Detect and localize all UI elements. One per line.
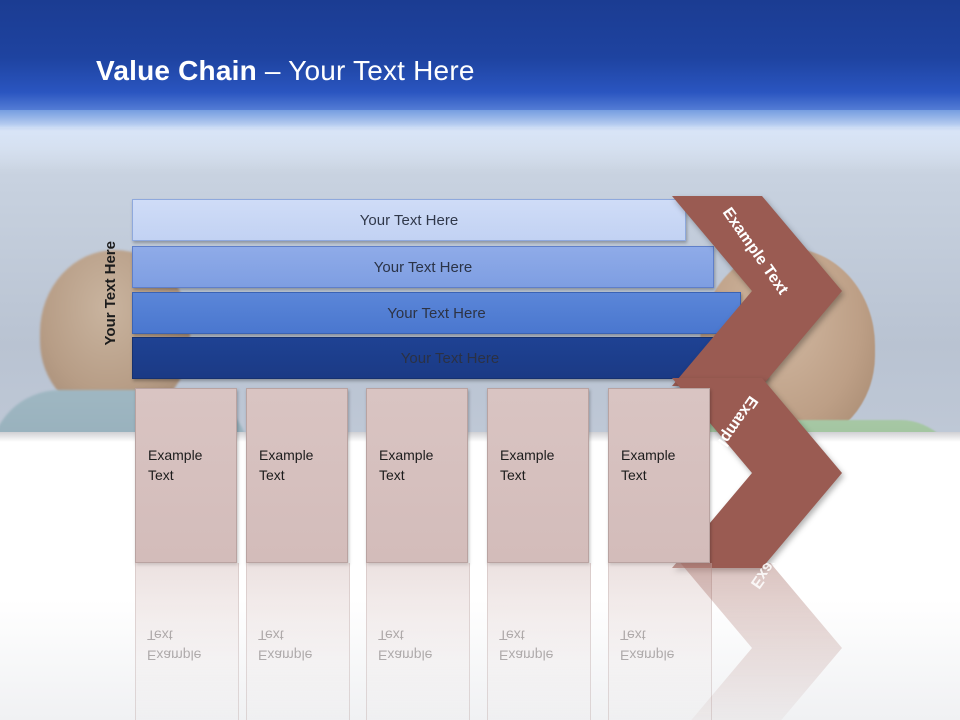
process-box-4-line2: Text bbox=[500, 465, 588, 485]
vertical-axis-label: Your Text Here bbox=[96, 208, 124, 378]
value-chain-bar-3-label: Your Text Here bbox=[387, 305, 485, 322]
chevron-arrow-top[interactable] bbox=[672, 196, 842, 386]
value-chain-bar-1[interactable]: Your Text Here bbox=[132, 199, 686, 241]
page-title-bold: Value Chain bbox=[96, 55, 257, 86]
value-chain-bar-2[interactable]: Your Text Here bbox=[132, 246, 714, 288]
process-box-5-line1: Example bbox=[621, 445, 709, 465]
page-title: Value Chain – Your Text Here bbox=[96, 55, 475, 87]
process-box-1-line2: Text bbox=[148, 465, 236, 485]
vertical-axis-label-text: Your Text Here bbox=[102, 241, 119, 345]
process-box-4-line1: Example bbox=[500, 445, 588, 465]
process-box-3-line2: Text bbox=[379, 465, 467, 485]
process-box-3[interactable]: Example Text bbox=[366, 388, 468, 563]
process-box-2-line2: Text bbox=[259, 465, 347, 485]
value-chain-bar-2-label: Your Text Here bbox=[374, 259, 472, 276]
process-box-2-line1: Example bbox=[259, 445, 347, 465]
process-box-5[interactable]: Example Text bbox=[608, 388, 710, 563]
process-box-2[interactable]: Example Text bbox=[246, 388, 348, 563]
slide-canvas: Value Chain – Your Text Here Your Text H… bbox=[0, 0, 960, 720]
value-chain-bar-4-label: Your Text Here bbox=[401, 350, 499, 367]
header-gradient-fade bbox=[0, 110, 960, 170]
process-box-1[interactable]: Example Text bbox=[135, 388, 237, 563]
process-box-4[interactable]: Example Text bbox=[487, 388, 589, 563]
page-title-rest: – Your Text Here bbox=[257, 55, 475, 86]
process-box-5-line2: Text bbox=[621, 465, 709, 485]
value-chain-bar-1-label: Your Text Here bbox=[360, 212, 458, 229]
process-box-3-line1: Example bbox=[379, 445, 467, 465]
process-box-1-line1: Example bbox=[148, 445, 236, 465]
value-chain-bar-3[interactable]: Your Text Here bbox=[132, 292, 741, 334]
